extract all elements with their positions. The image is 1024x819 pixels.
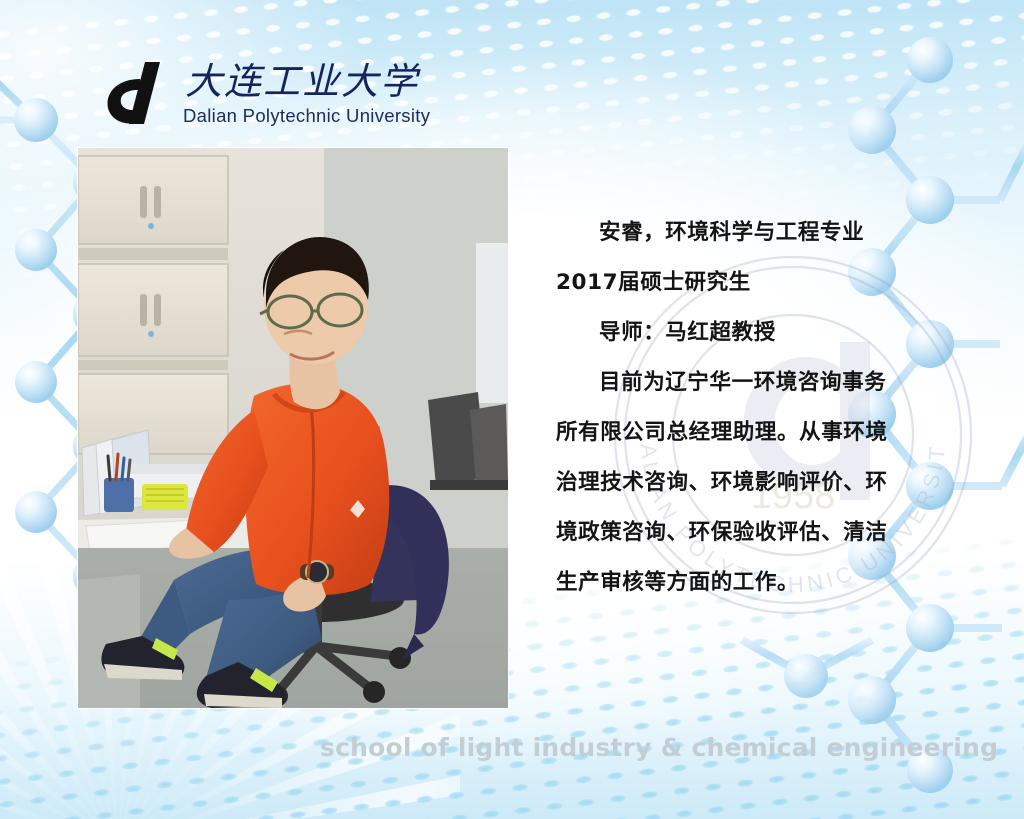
bio-line: 导师：马红超教授 bbox=[556, 308, 968, 358]
bio-line: 生产审核等方面的工作。 bbox=[556, 558, 968, 608]
university-logo: 大连工业大学 Dalian Polytechnic University bbox=[104, 58, 430, 126]
biography-text: 安睿，环境科学与工程专业 2017届硕士研究生 导师：马红超教授 目前为辽宁华一… bbox=[556, 208, 968, 608]
bio-line: 境政策咨询、环保验收评估、清洁 bbox=[556, 508, 968, 558]
bio-line: 治理技术咨询、环境影响评价、环 bbox=[556, 458, 968, 508]
bio-line: 所有限公司总经理助理。从事环境 bbox=[556, 408, 968, 458]
bio-line: 安睿，环境科学与工程专业 bbox=[556, 208, 968, 258]
university-name-cn-text: 大连工业大学 bbox=[185, 60, 421, 103]
profile-photo bbox=[78, 148, 508, 708]
dalian-polytechnic-d-mark bbox=[104, 60, 166, 126]
presentation-slide: 大连工业大学 DALIAN POLYTECHNIC UNIVERSITY 195… bbox=[0, 0, 1024, 819]
footer-tagline: school of light industry & chemical engi… bbox=[320, 733, 998, 762]
bio-line: 目前为辽宁华一环境咨询事务 bbox=[556, 358, 968, 408]
university-name-cn: 大连工业大学 bbox=[180, 58, 430, 104]
bio-line: 2017届硕士研究生 bbox=[556, 258, 968, 308]
university-name-en: Dalian Polytechnic University bbox=[183, 107, 430, 126]
